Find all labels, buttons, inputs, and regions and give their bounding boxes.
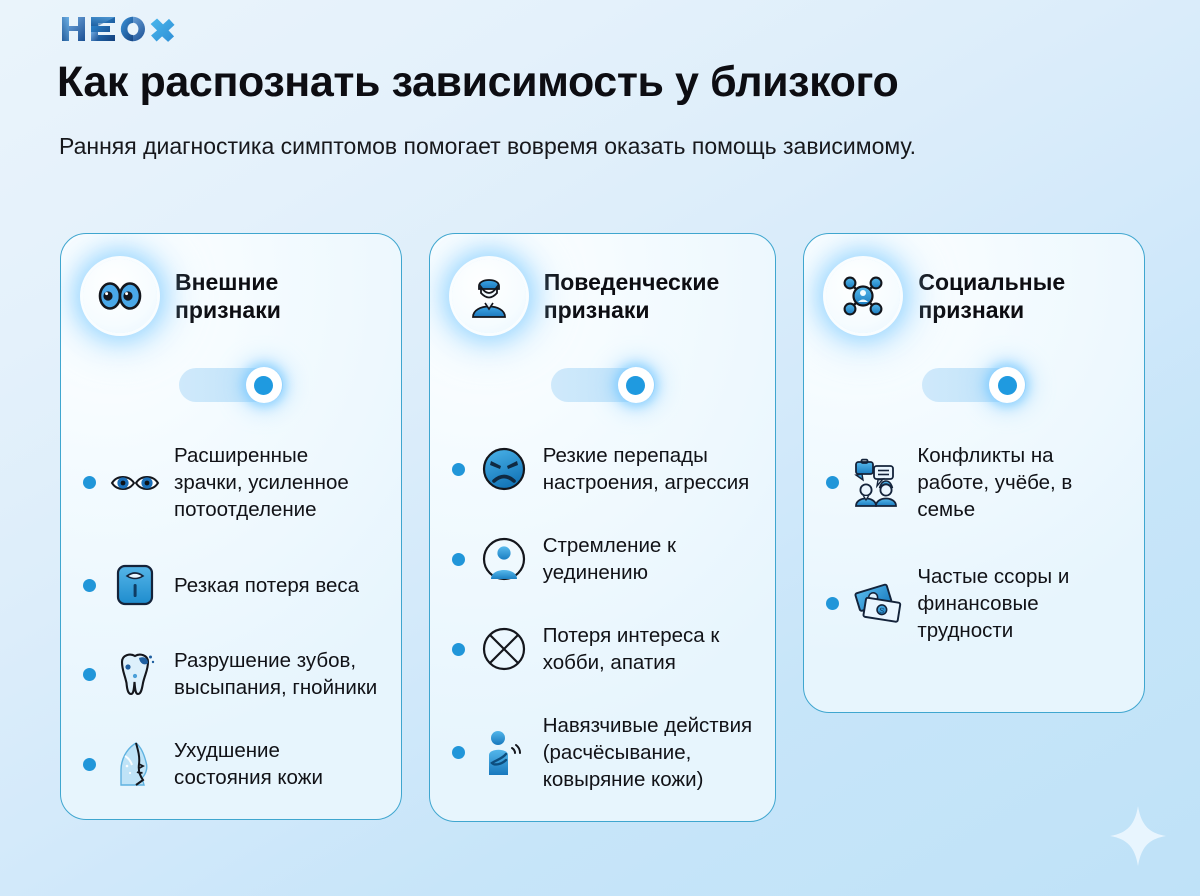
neo-plus-logo-icon (60, 14, 184, 44)
angry-face-icon (478, 443, 530, 495)
list-item[interactable]: Стремление к уединению (452, 532, 754, 586)
card-title: Социальные признаки (918, 268, 1122, 324)
toggle-switch-social[interactable] (922, 368, 1026, 402)
bullet-dot (826, 476, 839, 489)
list-item[interactable]: Конфликты на работе, учёбе, в семье (826, 442, 1122, 523)
list-item-text: Разрушение зубов, высыпания, гнойники (174, 647, 379, 701)
symptom-list: Расширенные зрачки, усиленное потоотделе… (83, 442, 379, 791)
social-network-icon (840, 273, 886, 319)
bullet-dot (826, 597, 839, 610)
bullet-dot (452, 643, 465, 656)
bullet-dot (83, 668, 96, 681)
symptom-list: Резкие перепады настроения, агрессия (452, 442, 754, 793)
list-item[interactable]: Навязчивые действия (расчёсывание, ковыр… (452, 712, 754, 793)
list-item-text: Резкие перепады настроения, агрессия (543, 442, 754, 496)
bullet-dot (452, 463, 465, 476)
list-item-text: Ухудшение состояния кожи (174, 737, 379, 791)
toggle-switch-behavioral[interactable] (551, 368, 655, 402)
decayed-tooth-icon (109, 648, 161, 700)
page-title: Как распознать зависимость у близкого (57, 57, 1157, 107)
toggle-knob[interactable] (246, 367, 282, 403)
bullet-dot (452, 553, 465, 566)
cards-row: Внешние признаки (60, 233, 1145, 822)
toggle-row (83, 368, 379, 402)
list-item[interactable]: Разрушение зубов, высыпания, гнойники (83, 647, 379, 701)
list-item[interactable]: Резкие перепады настроения, агрессия (452, 442, 754, 496)
people-conflict-icon (852, 457, 904, 509)
bullet-dot (452, 746, 465, 759)
dilated-pupils-icon (109, 457, 161, 509)
list-item-text: Частые ссоры и финансовые трудности (917, 563, 1122, 644)
card-header: Внешние признаки (83, 258, 379, 334)
card-title: Поведенческие признаки (544, 268, 754, 324)
list-item[interactable]: S Частые ссоры и финансовые трудности (826, 563, 1122, 644)
toggle-row (826, 368, 1122, 402)
crossed-circle-icon (478, 623, 530, 675)
card-title: Внешние признаки (175, 268, 379, 324)
card-external-signs[interactable]: Внешние признаки (60, 233, 402, 820)
banknotes-money-icon: S (852, 578, 904, 630)
list-item-text: Расширенные зрачки, усиленное потоотделе… (174, 442, 379, 523)
list-item[interactable]: Расширенные зрачки, усиленное потоотделе… (83, 442, 379, 523)
toggle-knob[interactable] (618, 367, 654, 403)
bullet-dot (83, 579, 96, 592)
four-point-star-icon (1108, 804, 1168, 868)
card-icon-badge (452, 259, 526, 333)
weight-scale-icon (109, 559, 161, 611)
toggle-knob[interactable] (989, 367, 1025, 403)
face-profile-skin-icon (109, 738, 161, 790)
card-header: Поведенческие признаки (452, 258, 754, 334)
list-item[interactable]: Ухудшение состояния кожи (83, 737, 379, 791)
page-subtitle: Ранняя диагностика симптомов помогает во… (59, 128, 959, 165)
list-item[interactable]: Потеря интереса к хобби, апатия (452, 622, 754, 676)
card-icon-badge (83, 259, 157, 333)
card-social-signs[interactable]: Социальные признаки (803, 233, 1145, 713)
list-item-text: Потеря интереса к хобби, апатия (543, 622, 754, 676)
list-item-text: Конфликты на работе, учёбе, в семье (917, 442, 1122, 523)
toggle-switch-external[interactable] (179, 368, 283, 402)
list-item-text: Стремление к уединению (543, 532, 754, 586)
brand-logo (60, 14, 184, 44)
card-icon-badge (826, 259, 900, 333)
person-avatar-icon (467, 273, 511, 319)
bullet-dot (83, 758, 96, 771)
list-item[interactable]: Резкая потеря веса (83, 559, 379, 611)
symptom-list: Конфликты на работе, учёбе, в семье (826, 442, 1122, 684)
toggle-row (452, 368, 754, 402)
eyes-icon (97, 279, 143, 313)
list-item-text: Резкая потеря веса (174, 572, 359, 599)
list-item-text: Навязчивые действия (расчёсывание, ковыр… (543, 712, 754, 793)
bullet-dot (83, 476, 96, 489)
card-header: Социальные признаки (826, 258, 1122, 334)
person-scratching-icon (478, 727, 530, 779)
card-behavioral-signs[interactable]: Поведенческие признаки (429, 233, 777, 822)
person-in-circle-icon (478, 533, 530, 585)
